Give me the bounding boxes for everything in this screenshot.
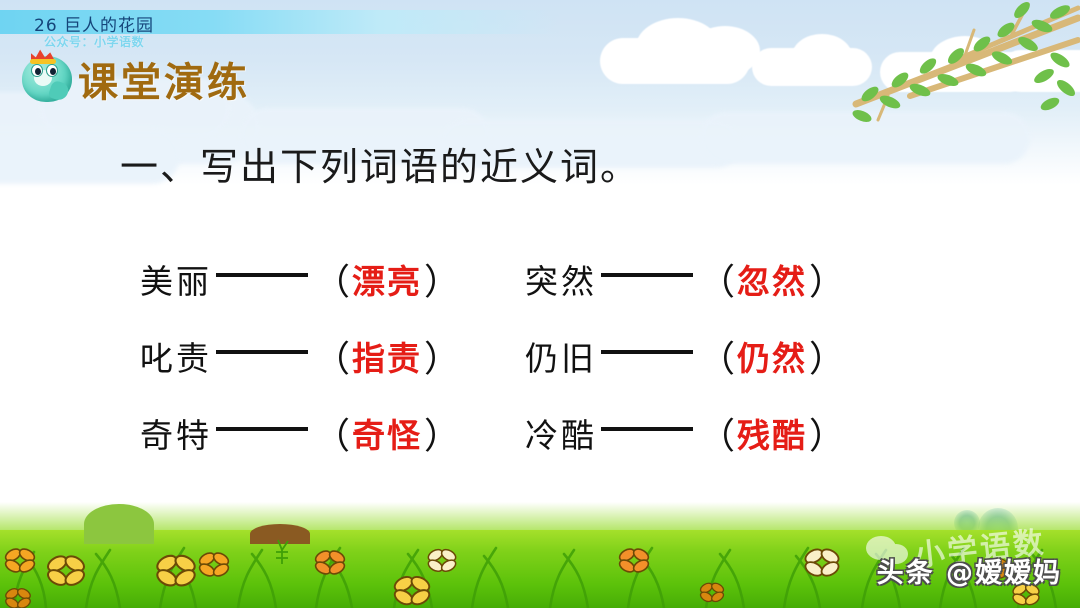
paren-close: ） (424, 407, 460, 459)
mascot-crown-band (30, 59, 56, 64)
word-pair: 美丽 （ 漂亮 ） (140, 253, 525, 305)
pair-dash (601, 350, 693, 354)
word-pair-grid: 美丽 （ 漂亮 ） 突然 （ 忽然 ） 叱责 （ 指责 ） (140, 240, 900, 471)
pair-prompt: 奇特 (140, 409, 212, 457)
paren-close: ） (424, 330, 460, 382)
paren-open: （ (699, 253, 735, 305)
pair-prompt: 突然 (525, 255, 597, 303)
pair-prompt: 叱责 (140, 332, 212, 380)
pair-answer: 指责 (350, 332, 424, 380)
word-pair: 冷酷 （ 残酷 ） (525, 407, 900, 459)
pair-prompt: 仍旧 (525, 332, 597, 380)
cloud-shape (690, 26, 760, 76)
word-pair-row: 奇特 （ 奇怪 ） 冷酷 （ 残酷 ） (140, 394, 900, 471)
paren-close: ） (809, 253, 845, 305)
word-pair: 叱责 （ 指责 ） (140, 330, 525, 382)
word-pair-row: 美丽 （ 漂亮 ） 突然 （ 忽然 ） (140, 240, 900, 317)
word-pair: 突然 （ 忽然 ） (525, 253, 900, 305)
paren-open: （ (314, 407, 350, 459)
mascot-eye-right (46, 64, 58, 77)
section-title: 课堂演练 (78, 50, 250, 108)
pair-answer: 忽然 (735, 255, 809, 303)
paren-close: ） (809, 330, 845, 382)
pair-prompt: 冷酷 (525, 409, 597, 457)
pair-dash (601, 427, 693, 431)
paren-close: ） (809, 407, 845, 459)
slide-canvas: 26 巨人的花园 公众号：小学语数 课堂演练 一、写出下列词语的近义词。 美丽 … (0, 0, 1080, 608)
pair-dash (216, 350, 308, 354)
pair-answer: 奇怪 (350, 409, 424, 457)
pair-answer: 残酷 (735, 409, 809, 457)
paren-open: （ (699, 330, 735, 382)
paren-open: （ (314, 253, 350, 305)
word-pair-row: 叱责 （ 指责 ） 仍旧 （ 仍然 ） (140, 317, 900, 394)
mascot-eye-left (31, 64, 43, 77)
pair-dash (601, 273, 693, 277)
pair-answer: 仍然 (735, 332, 809, 380)
q-mascot-icon (20, 48, 76, 104)
branch-decoration-icon (760, 0, 1080, 140)
pair-answer: 漂亮 (350, 255, 424, 303)
paren-open: （ (314, 330, 350, 382)
paren-open: （ (699, 407, 735, 459)
pair-dash (216, 273, 308, 277)
word-pair: 仍旧 （ 仍然 ） (525, 330, 900, 382)
pair-prompt: 美丽 (140, 255, 212, 303)
pair-dash (216, 427, 308, 431)
watermark-headline: 头条 @嫒嫒妈 (877, 551, 1062, 590)
paren-close: ） (424, 253, 460, 305)
exercise-instruction: 一、写出下列词语的近义词。 (120, 136, 640, 191)
word-pair: 奇特 （ 奇怪 ） (140, 407, 525, 459)
